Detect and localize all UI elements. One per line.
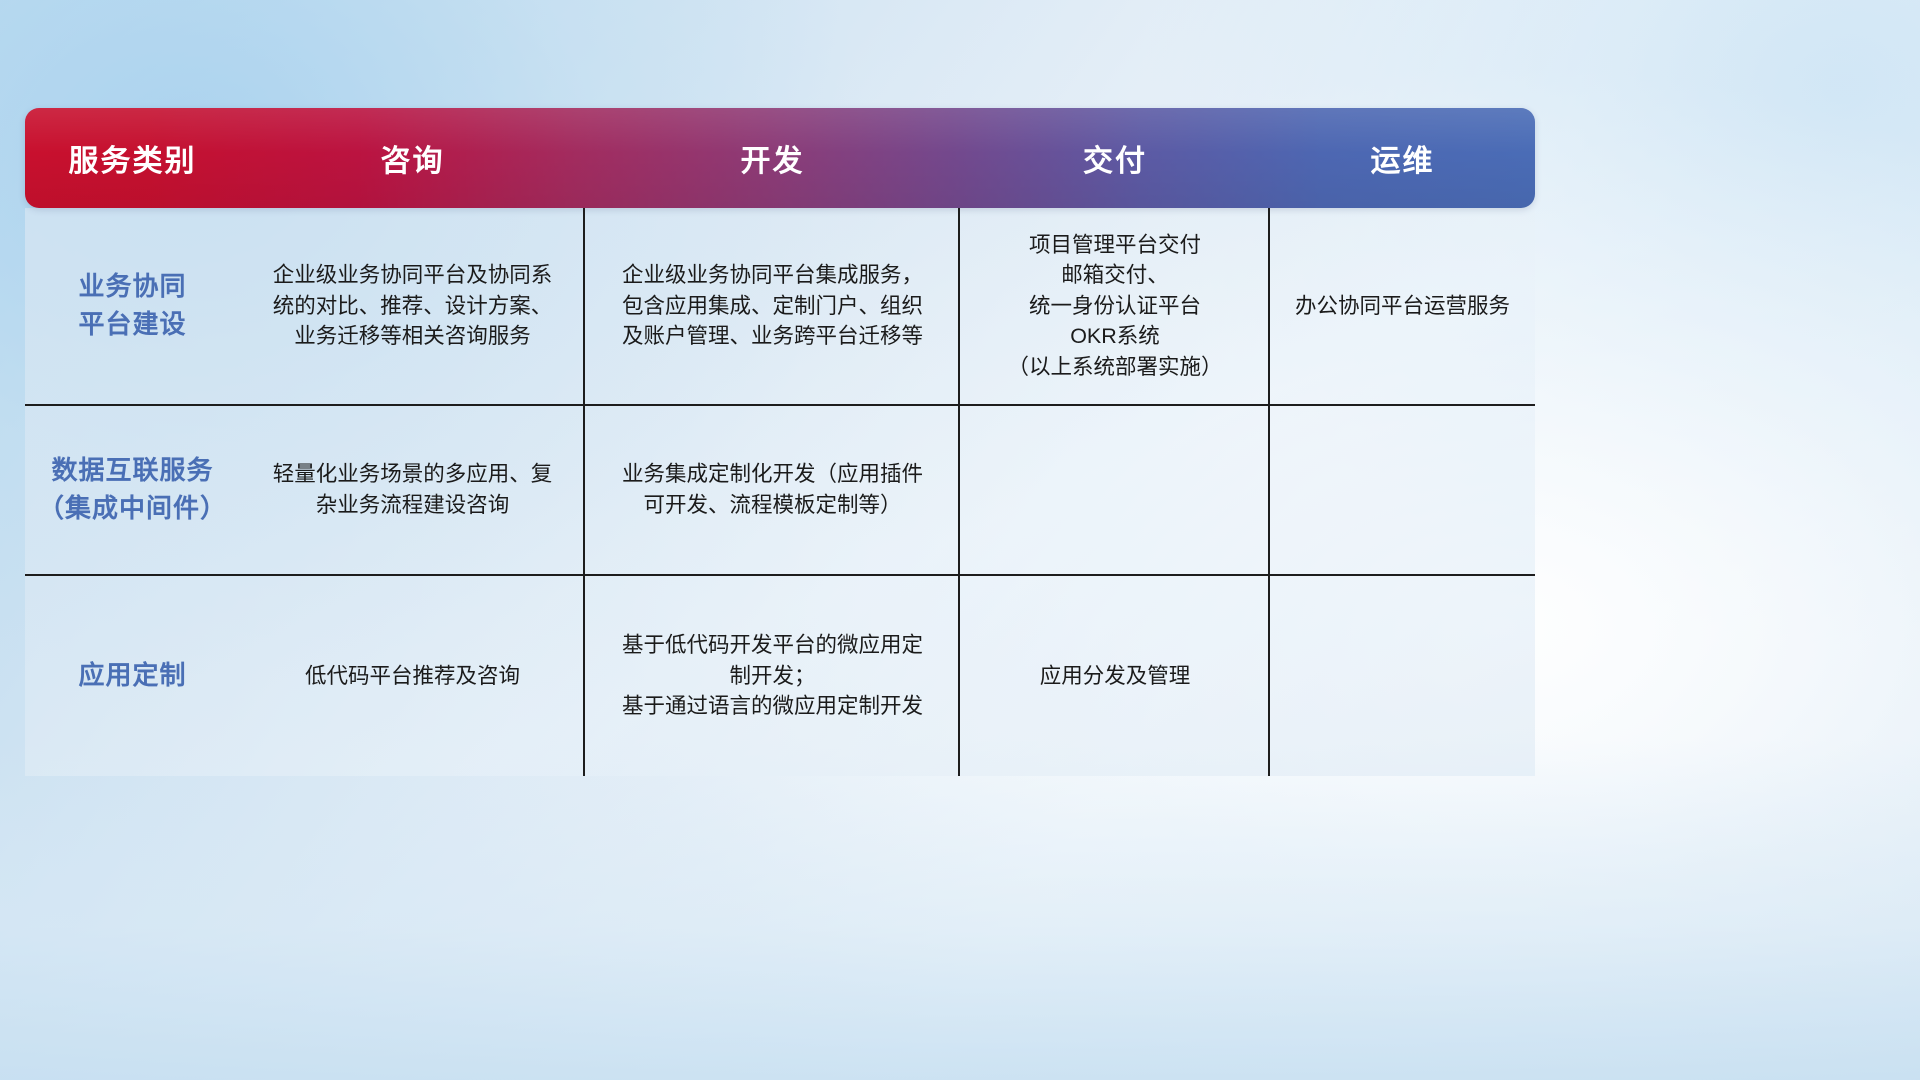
service-matrix-table: 服务类别 咨询 开发 交付 运维 业务协同 平台建设 企业级业务协同平台及协同系… [25, 108, 1535, 776]
cell-r3-delivery: 应用分发及管理 [960, 576, 1270, 776]
cell-r1-consulting: 企业级业务协同平台及协同系 统的对比、推荐、设计方案、 业务迁移等相关咨询服务 [240, 208, 585, 404]
header-cell-consulting: 咨询 [240, 136, 585, 180]
cell-r3-consulting: 低代码平台推荐及咨询 [240, 576, 585, 776]
row-label-data-integration: 数据互联服务 （集成中间件） [25, 406, 240, 574]
table-row: 业务协同 平台建设 企业级业务协同平台及协同系 统的对比、推荐、设计方案、 业务… [25, 208, 1535, 406]
cell-r1-operations: 办公协同平台运营服务 [1270, 208, 1535, 404]
table-row: 应用定制 低代码平台推荐及咨询 基于低代码开发平台的微应用定 制开发； 基于通过… [25, 576, 1535, 776]
cell-r2-development: 业务集成定制化开发（应用插件 可开发、流程模板定制等） [585, 406, 960, 574]
cell-r3-development: 基于低代码开发平台的微应用定 制开发； 基于通过语言的微应用定制开发 [585, 576, 960, 776]
row-label-app-customization: 应用定制 [25, 576, 240, 776]
header-cell-operations: 运维 [1270, 136, 1535, 180]
cell-r1-development: 企业级业务协同平台集成服务， 包含应用集成、定制门户、组织 及账户管理、业务跨平… [585, 208, 960, 404]
cell-r2-operations [1270, 406, 1535, 574]
header-cell-delivery: 交付 [960, 136, 1270, 180]
header-cell-development: 开发 [585, 136, 960, 180]
cell-r1-delivery: 项目管理平台交付 邮箱交付、 统一身份认证平台 OKR系统 （以上系统部署实施） [960, 208, 1270, 404]
cell-r2-delivery [960, 406, 1270, 574]
row-label-business-collaboration: 业务协同 平台建设 [25, 208, 240, 404]
table-row: 数据互联服务 （集成中间件） 轻量化业务场景的多应用、复 杂业务流程建设咨询 业… [25, 406, 1535, 576]
header-cell-service-category: 服务类别 [25, 136, 240, 180]
table-header-row: 服务类别 咨询 开发 交付 运维 [25, 108, 1535, 208]
cell-r3-operations [1270, 576, 1535, 776]
cell-r2-consulting: 轻量化业务场景的多应用、复 杂业务流程建设咨询 [240, 406, 585, 574]
table-body: 业务协同 平台建设 企业级业务协同平台及协同系 统的对比、推荐、设计方案、 业务… [25, 208, 1535, 776]
